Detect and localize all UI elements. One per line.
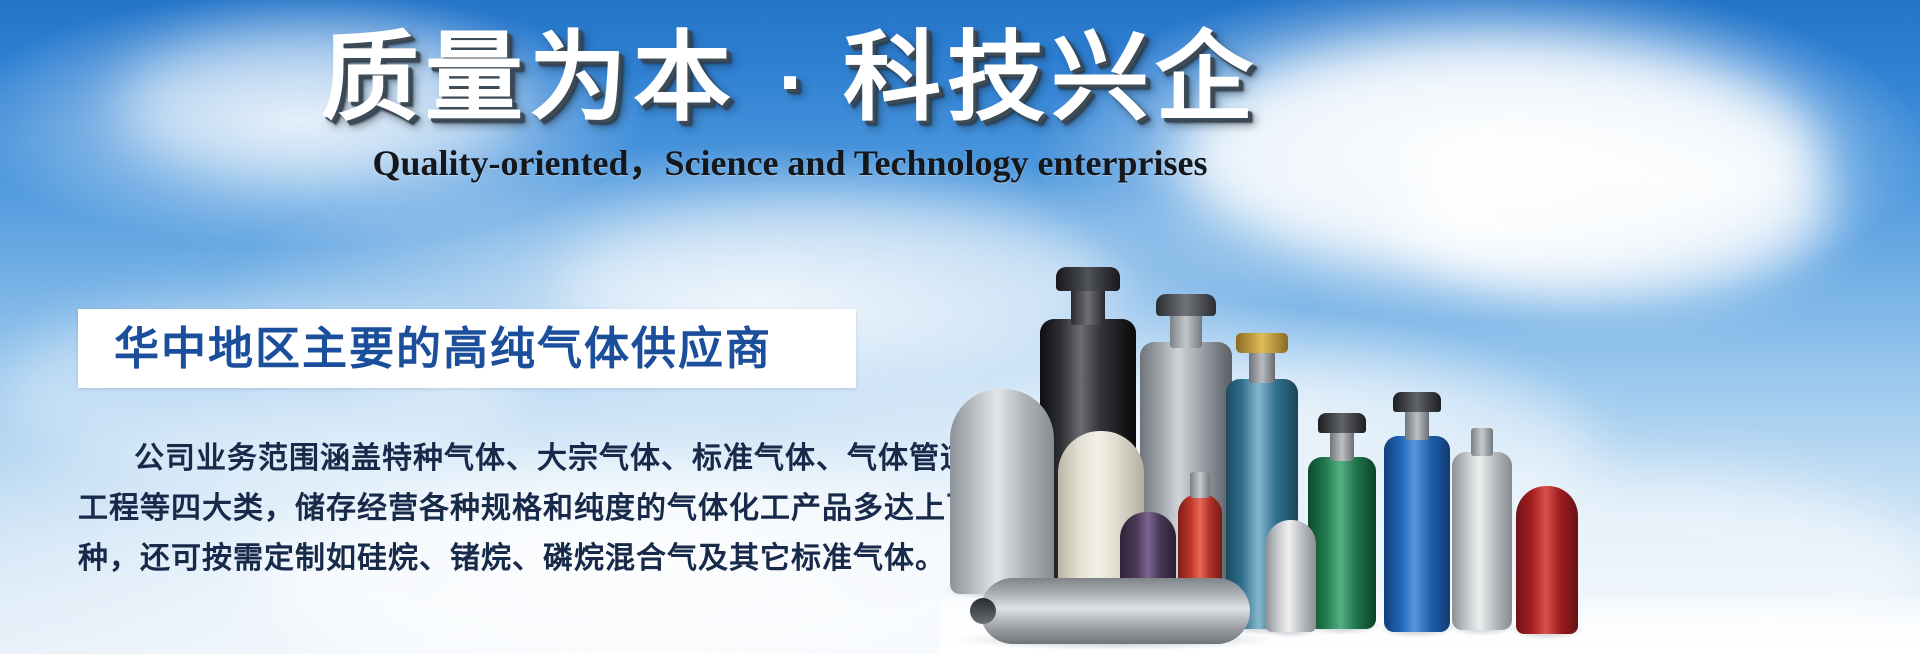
headline-part-two: 科技兴企 (843, 21, 1259, 135)
banner-subheadline: Quality-oriented，Science and Technology … (300, 140, 1280, 186)
small-silver-bottle (1266, 520, 1316, 632)
cylinder-neck (1330, 431, 1354, 461)
cylinder-body (950, 389, 1054, 594)
blue-cylinder (1384, 436, 1450, 632)
body-line: 工程等四大类，储存经营各种规格和纯度的气体化工产品多达上百 (78, 484, 868, 534)
silver-cylinder (1452, 452, 1512, 630)
slogan-text: 华中地区主要的高纯气体供应商 (78, 324, 772, 374)
cylinder-body (980, 578, 1250, 644)
light-grey-cylinder (950, 389, 1054, 594)
body-line: 公司业务范围涵盖特种气体、大宗气体、标准气体、气体管道 (78, 434, 868, 484)
cylinder-valve-handle (1393, 392, 1441, 412)
cylinder-body (1452, 452, 1512, 630)
cylinder-neck (1170, 312, 1202, 348)
hero-banner: 质量为本 · 科技兴企 Quality-oriented，Science and… (0, 0, 1920, 654)
cylinder-neck (1249, 351, 1275, 383)
banner-headline: 质量为本 · 科技兴企 (300, 22, 1280, 140)
cylinder-valve-handle (1056, 267, 1120, 291)
body-line: 种，还可按需定制如硅烷、锗烷、磷烷混合气及其它标准气体。 (78, 534, 868, 584)
headline-part-one: 质量为本 (321, 21, 737, 135)
cylinder-valve-handle (1318, 413, 1366, 433)
cylinder-valve-handle (1156, 294, 1216, 316)
tank-end-cap (970, 598, 996, 624)
cylinder-neck (1071, 285, 1105, 325)
cylinder-body (1308, 457, 1376, 629)
banner-body-copy: 公司业务范围涵盖特种气体、大宗气体、标准气体、气体管道 工程等四大类，储存经营各… (78, 434, 868, 584)
headline-separator-dot: · (777, 44, 803, 123)
dark-red-cylinder (1516, 486, 1578, 634)
slogan-box: 华中地区主要的高纯气体供应商 (78, 309, 856, 388)
cylinder-neck (1471, 428, 1493, 456)
cylinder-body (1516, 486, 1578, 634)
cylinder-neck (1190, 472, 1210, 498)
cylinder-body (1384, 436, 1450, 632)
cylinder-body (1266, 520, 1316, 632)
cylinder-neck (1405, 410, 1429, 440)
green-cylinder (1308, 457, 1376, 629)
cylinder-valve-brass (1236, 333, 1288, 353)
horizontal-grey-tank (980, 578, 1250, 644)
gas-cylinder-group (960, 234, 1920, 654)
